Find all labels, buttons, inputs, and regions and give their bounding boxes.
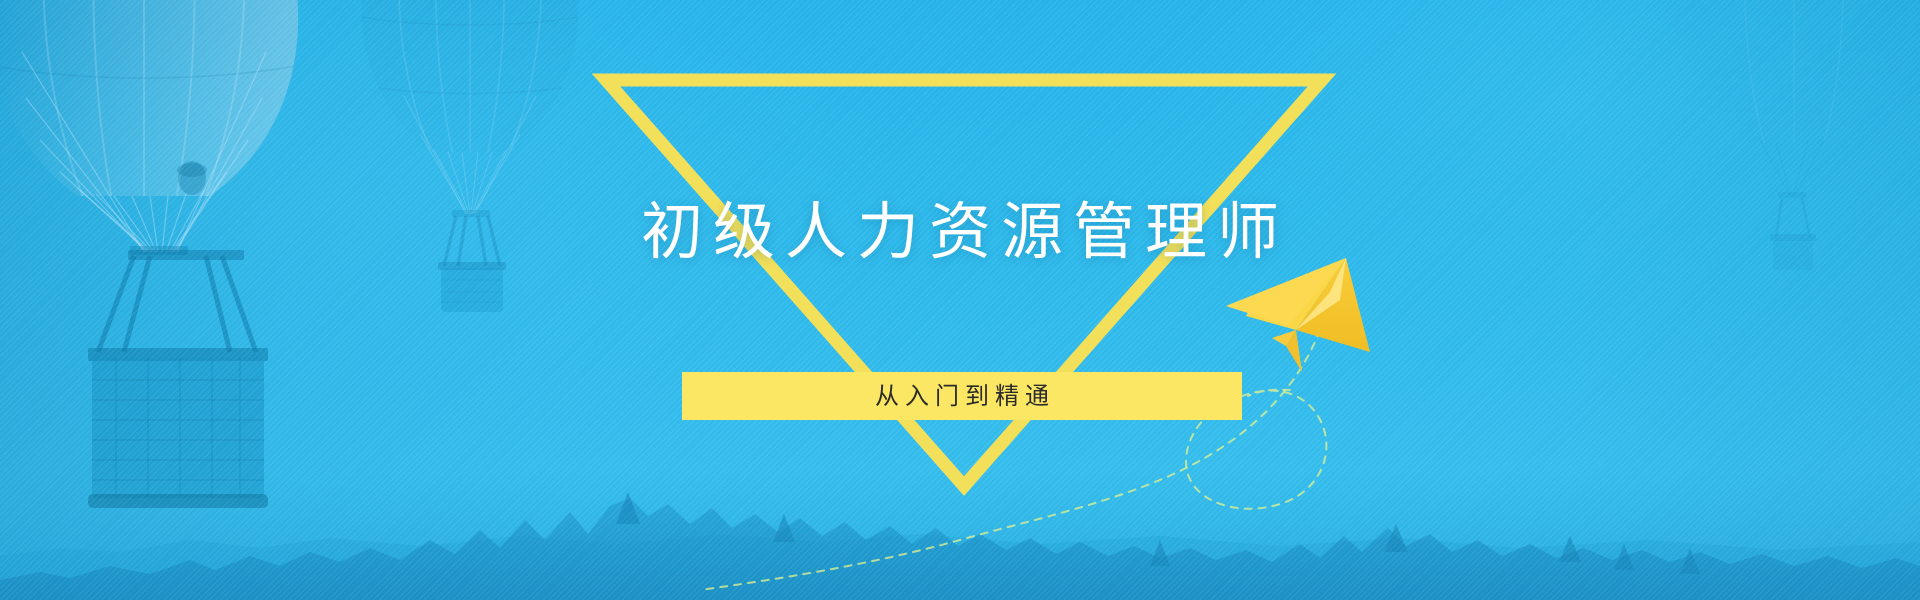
page-title: 初级人力资源管理师 [0, 196, 1920, 268]
subtitle-banner: 从入门到精通 [682, 372, 1242, 420]
triangle-outline [606, 80, 1322, 486]
course-hero-banner: 初级人力资源管理师 从入门到精通 [0, 0, 1920, 600]
paper-plane [1226, 258, 1370, 372]
subtitle-text: 从入门到精通 [869, 384, 1055, 408]
flight-trail [700, 330, 1326, 590]
vector-layer [0, 0, 1920, 600]
